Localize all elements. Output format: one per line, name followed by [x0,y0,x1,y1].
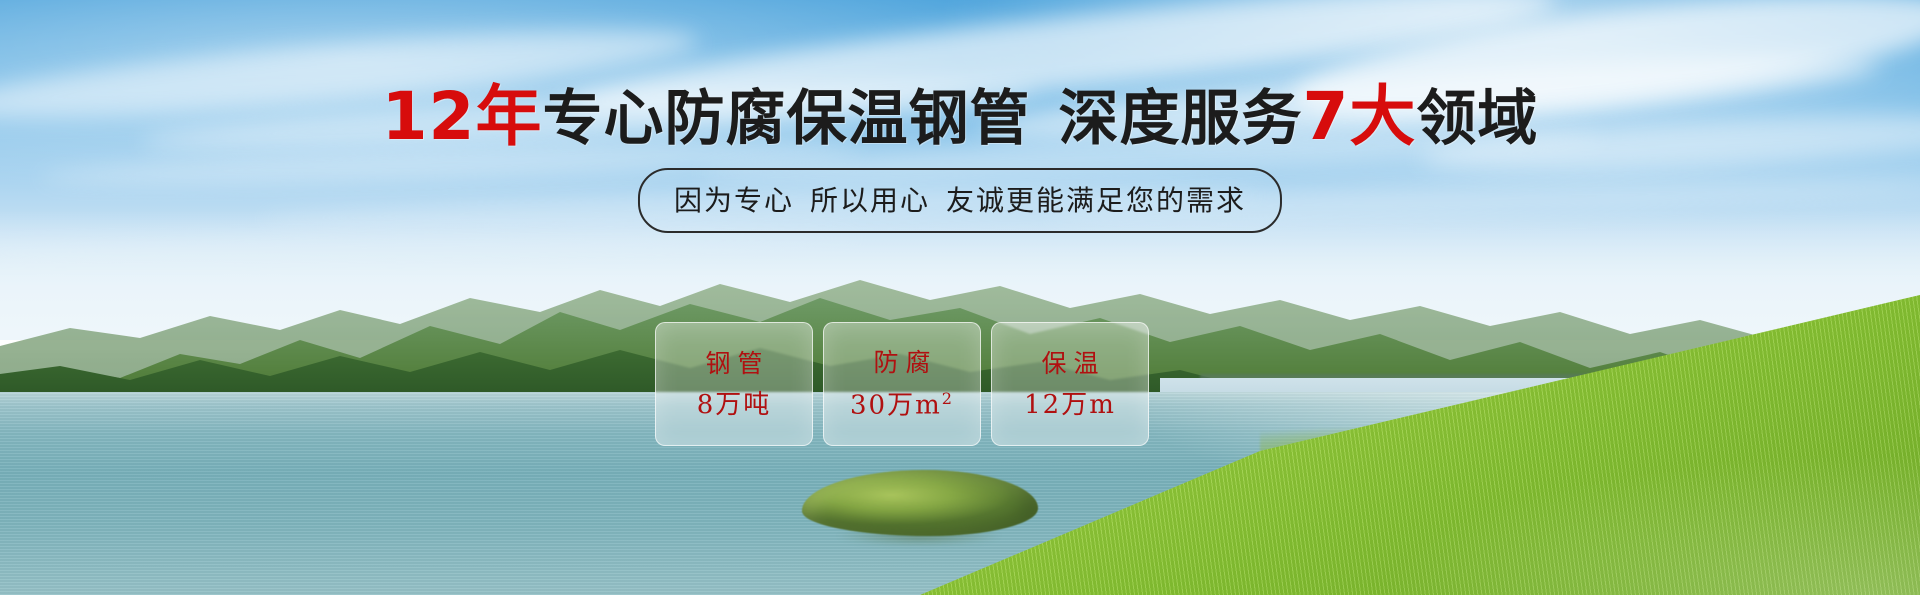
stat-value-base: 8万吨 [697,390,772,420]
stat-value-base: 30万m [850,390,942,420]
headline-years-number: 12 [382,78,476,155]
stat-value-base: 12万m [1024,390,1116,420]
stat-card[interactable]: 防腐 30万m2 [823,322,981,446]
stat-value-superscript: 2 [942,389,954,408]
headline-years-unit: 年 [475,78,542,155]
promo-banner: 12年专心防腐保温钢管深度服务7大领域 因为专心所以用心友诚更能满足您的需求 钢… [0,0,1920,595]
stat-card-value: 30万m2 [850,391,954,419]
headline-service-suffix: 领域 [1416,84,1538,154]
stat-card[interactable]: 保温 12万m [991,322,1149,446]
headline: 12年专心防腐保温钢管深度服务7大领域 [0,82,1920,152]
stat-card-group: 钢管 8万吨 防腐 30万m2 保温 12万m [655,322,1149,446]
stat-card-value: 12万m [1024,392,1116,418]
subtitle-part-2: 所以用心 [810,184,930,217]
subtitle-pill: 因为专心所以用心友诚更能满足您的需求 [638,168,1282,233]
stat-card-value: 8万吨 [697,392,772,418]
subtitle-part-1: 因为专心 [674,184,794,217]
headline-main-text: 专心防腐保温钢管 [542,84,1030,154]
stat-card-label: 钢管 [698,351,769,376]
banner-content: 12年专心防腐保温钢管深度服务7大领域 因为专心所以用心友诚更能满足您的需求 钢… [0,0,1920,595]
headline-service-unit: 大 [1349,78,1416,155]
subtitle-part-3: 友诚更能满足您的需求 [946,184,1246,217]
stat-card-label: 保温 [1034,351,1105,376]
headline-service-prefix: 深度服务 [1058,84,1302,154]
stat-card-label: 防腐 [866,350,937,375]
stat-card[interactable]: 钢管 8万吨 [655,322,813,446]
headline-service-number: 7 [1302,78,1349,155]
